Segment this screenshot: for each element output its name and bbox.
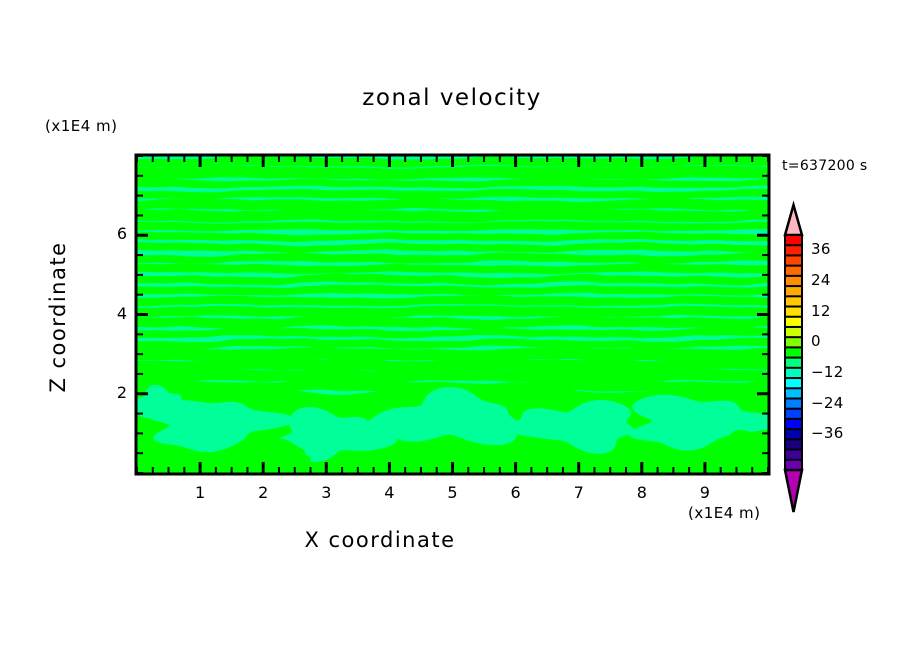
- contour-band: [137, 285, 768, 296]
- colorbar-band: [785, 358, 802, 369]
- contour-band: [137, 306, 768, 318]
- colorbar-band: [785, 347, 802, 358]
- x-axis-unit-label: (x1E4 m): [688, 504, 761, 522]
- contour-band: [137, 165, 768, 179]
- contour-field: [127, 156, 792, 474]
- colorbar-band: [785, 286, 802, 297]
- contour-band: [137, 295, 768, 306]
- colorbar-band: [785, 235, 802, 246]
- colorbar-band: [785, 337, 802, 348]
- colorbar-band: [785, 296, 802, 307]
- x-tick-label: 2: [243, 483, 283, 502]
- contour-band: [137, 198, 768, 211]
- colorbar-tick-label: 12: [811, 302, 831, 320]
- colorbar-band: [785, 307, 802, 318]
- colorbar-band: [785, 255, 802, 266]
- y-tick-label: 4: [99, 304, 127, 323]
- colorbar-tick-label: −36: [811, 424, 844, 442]
- x-tick-label: 9: [685, 483, 725, 502]
- contour-band: [137, 338, 768, 349]
- colorbar-band: [785, 398, 802, 409]
- axes-frame: [136, 155, 769, 474]
- colorbar-band: [785, 317, 802, 328]
- x-tick-label: 6: [496, 483, 536, 502]
- contour-band: [137, 263, 768, 274]
- page-title: zonal velocity: [0, 85, 904, 111]
- contour-band: [137, 221, 768, 231]
- colorbar-band: [785, 429, 802, 440]
- contour-band: [137, 156, 768, 168]
- contour-band: [137, 208, 768, 223]
- x-tick-label: 5: [433, 483, 473, 502]
- contour-blob: [706, 430, 792, 468]
- contour-band: [137, 369, 768, 383]
- contour-blob: [220, 438, 312, 474]
- colorbar-over-arrow: [785, 205, 802, 235]
- contour-blob: [629, 395, 784, 451]
- contour-blob: [460, 446, 589, 474]
- x-tick-label: 3: [306, 483, 346, 502]
- colorbar-band: [785, 368, 802, 379]
- contour-band: [137, 242, 768, 253]
- colorbar-band: [785, 450, 802, 461]
- contour-blob: [368, 387, 520, 445]
- colorbar-band: [785, 460, 802, 471]
- colorbar-band: [785, 327, 802, 338]
- contour-band: [137, 274, 768, 286]
- timestamp-annotation: t=637200 s: [782, 158, 867, 174]
- colorbar-tick-label: −12: [811, 363, 844, 381]
- colorbar-tick-label: 0: [811, 332, 821, 350]
- y-axis-title: Z coordinate: [46, 217, 70, 417]
- axis-ticks: [137, 156, 768, 473]
- contour-band: [137, 178, 768, 188]
- colorbar-band: [785, 266, 802, 277]
- contour-blob: [127, 385, 189, 418]
- colorbar-band: [785, 419, 802, 430]
- y-tick-label: 6: [99, 224, 127, 243]
- y-tick-label: 2: [99, 383, 127, 402]
- contour-band: [137, 327, 768, 338]
- figure-canvas: zonal velocity (x1E4 m) t=637200 s Z coo…: [0, 0, 904, 654]
- contour-band: [137, 232, 768, 242]
- x-tick-label: 1: [180, 483, 220, 502]
- y-axis-unit-label: (x1E4 m): [45, 117, 118, 135]
- colorbar-band: [785, 388, 802, 399]
- colorbar-band: [785, 276, 802, 287]
- colorbar-band: [785, 378, 802, 389]
- x-tick-label: 4: [369, 483, 409, 502]
- contour-blob: [139, 400, 295, 452]
- contour-band: [137, 347, 768, 362]
- contour-blob: [508, 400, 635, 454]
- contour-band: [137, 252, 768, 263]
- x-tick-label: 7: [559, 483, 599, 502]
- contour-blob: [271, 407, 397, 462]
- x-tick-label: 8: [622, 483, 662, 502]
- colorbar-band: [785, 409, 802, 420]
- contour-band: [137, 315, 768, 329]
- colorbar-band: [785, 245, 802, 256]
- colorbar-under-arrow: [785, 470, 802, 512]
- colorbar: [785, 205, 802, 512]
- x-axis-title: X coordinate: [0, 528, 760, 552]
- colorbar-tick-label: 24: [811, 271, 831, 289]
- contour-band: [137, 380, 768, 393]
- contour-band: [137, 357, 768, 373]
- colorbar-tick-label: −24: [811, 394, 844, 412]
- contour-band: [137, 189, 768, 199]
- colorbar-tick-label: 36: [811, 240, 831, 258]
- lower-region-base: [137, 384, 768, 473]
- colorbar-band: [785, 439, 802, 450]
